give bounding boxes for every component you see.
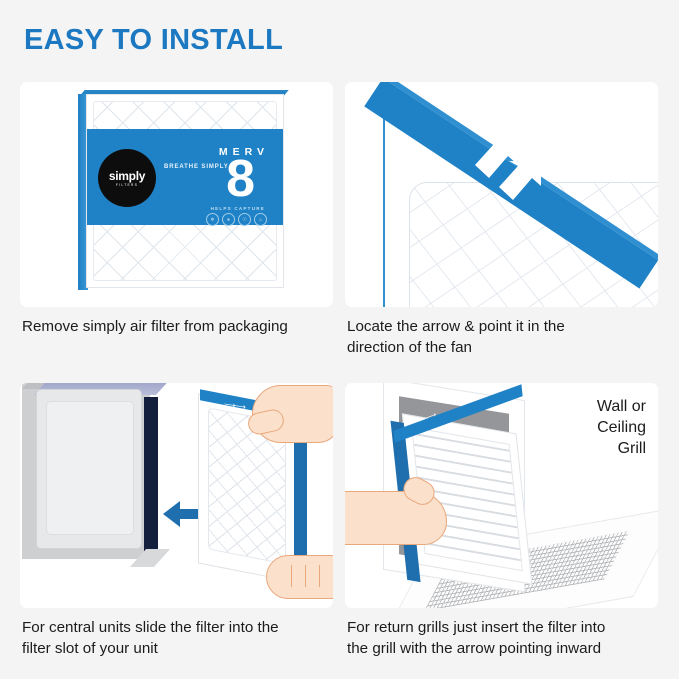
step-panel-3: ⟶⟶ For central units slide the filter in… — [20, 383, 333, 673]
merv-value: 8 — [226, 153, 255, 205]
airflow-arrow-illustration — [345, 82, 658, 307]
page-title: EASY TO INSTALL — [24, 24, 283, 57]
brand-subtitle: FILTERS — [116, 183, 138, 187]
pollen-icon: ❄ — [206, 213, 219, 226]
finger-lines-lower — [278, 565, 333, 587]
bacteria-icon: ☉ — [238, 213, 251, 226]
dust-icon: ● — [222, 213, 235, 226]
step-3-image-card: ⟶⟶ — [20, 383, 333, 608]
infographic-page: EASY TO INSTALL simply FILTERS BRE — [0, 0, 679, 679]
step-panel-1: simply FILTERS BREATHE SIMPLY MERV 8 HEL… — [20, 82, 333, 372]
brand-name: simply — [109, 170, 145, 182]
package-label-band: simply FILTERS BREATHE SIMPLY MERV 8 HEL… — [87, 129, 283, 225]
step-1-image-card: simply FILTERS BREATHE SIMPLY MERV 8 HEL… — [20, 82, 333, 307]
step-4-caption: For return grills just insert the filter… — [347, 618, 667, 659]
return-grill-illustration: ⟶ Wall or Ceiling Grill — [345, 383, 658, 608]
step-2-caption: Locate the arrow & point it in the direc… — [347, 317, 667, 358]
airflow-arrow-2-icon — [497, 160, 543, 202]
helps-capture-label: HELPS CAPTURE — [211, 206, 265, 211]
brand-logo: simply FILTERS — [98, 149, 156, 207]
mold-icon: ♨ — [254, 213, 267, 226]
step-panel-4: ⟶ Wall or Ceiling Grill For return grill… — [345, 383, 658, 673]
filter-frame-vertical-edge — [383, 100, 385, 307]
filter-package-illustration: simply FILTERS BREATHE SIMPLY MERV 8 HEL… — [20, 82, 333, 307]
package-front-panel: simply FILTERS BREATHE SIMPLY MERV 8 HEL… — [86, 94, 284, 288]
step-3-caption: For central units slide the filter into … — [22, 618, 342, 659]
step-panel-2: Locate the arrow & point it in the direc… — [345, 82, 658, 372]
brand-tagline: BREATHE SIMPLY — [164, 163, 229, 172]
hvac-unit-inner-face — [46, 401, 134, 535]
central-unit-illustration: ⟶⟶ — [20, 383, 333, 608]
step-2-image-card — [345, 82, 658, 307]
step-1-caption: Remove simply air filter from packaging — [22, 317, 342, 338]
hvac-unit-filter-slot — [144, 397, 158, 557]
grill-type-label: Wall or Ceiling Grill — [597, 397, 646, 459]
step-4-image-card: ⟶ Wall or Ceiling Grill — [345, 383, 658, 608]
capture-icon-row: ❄ ● ☉ ♨ — [206, 213, 267, 226]
